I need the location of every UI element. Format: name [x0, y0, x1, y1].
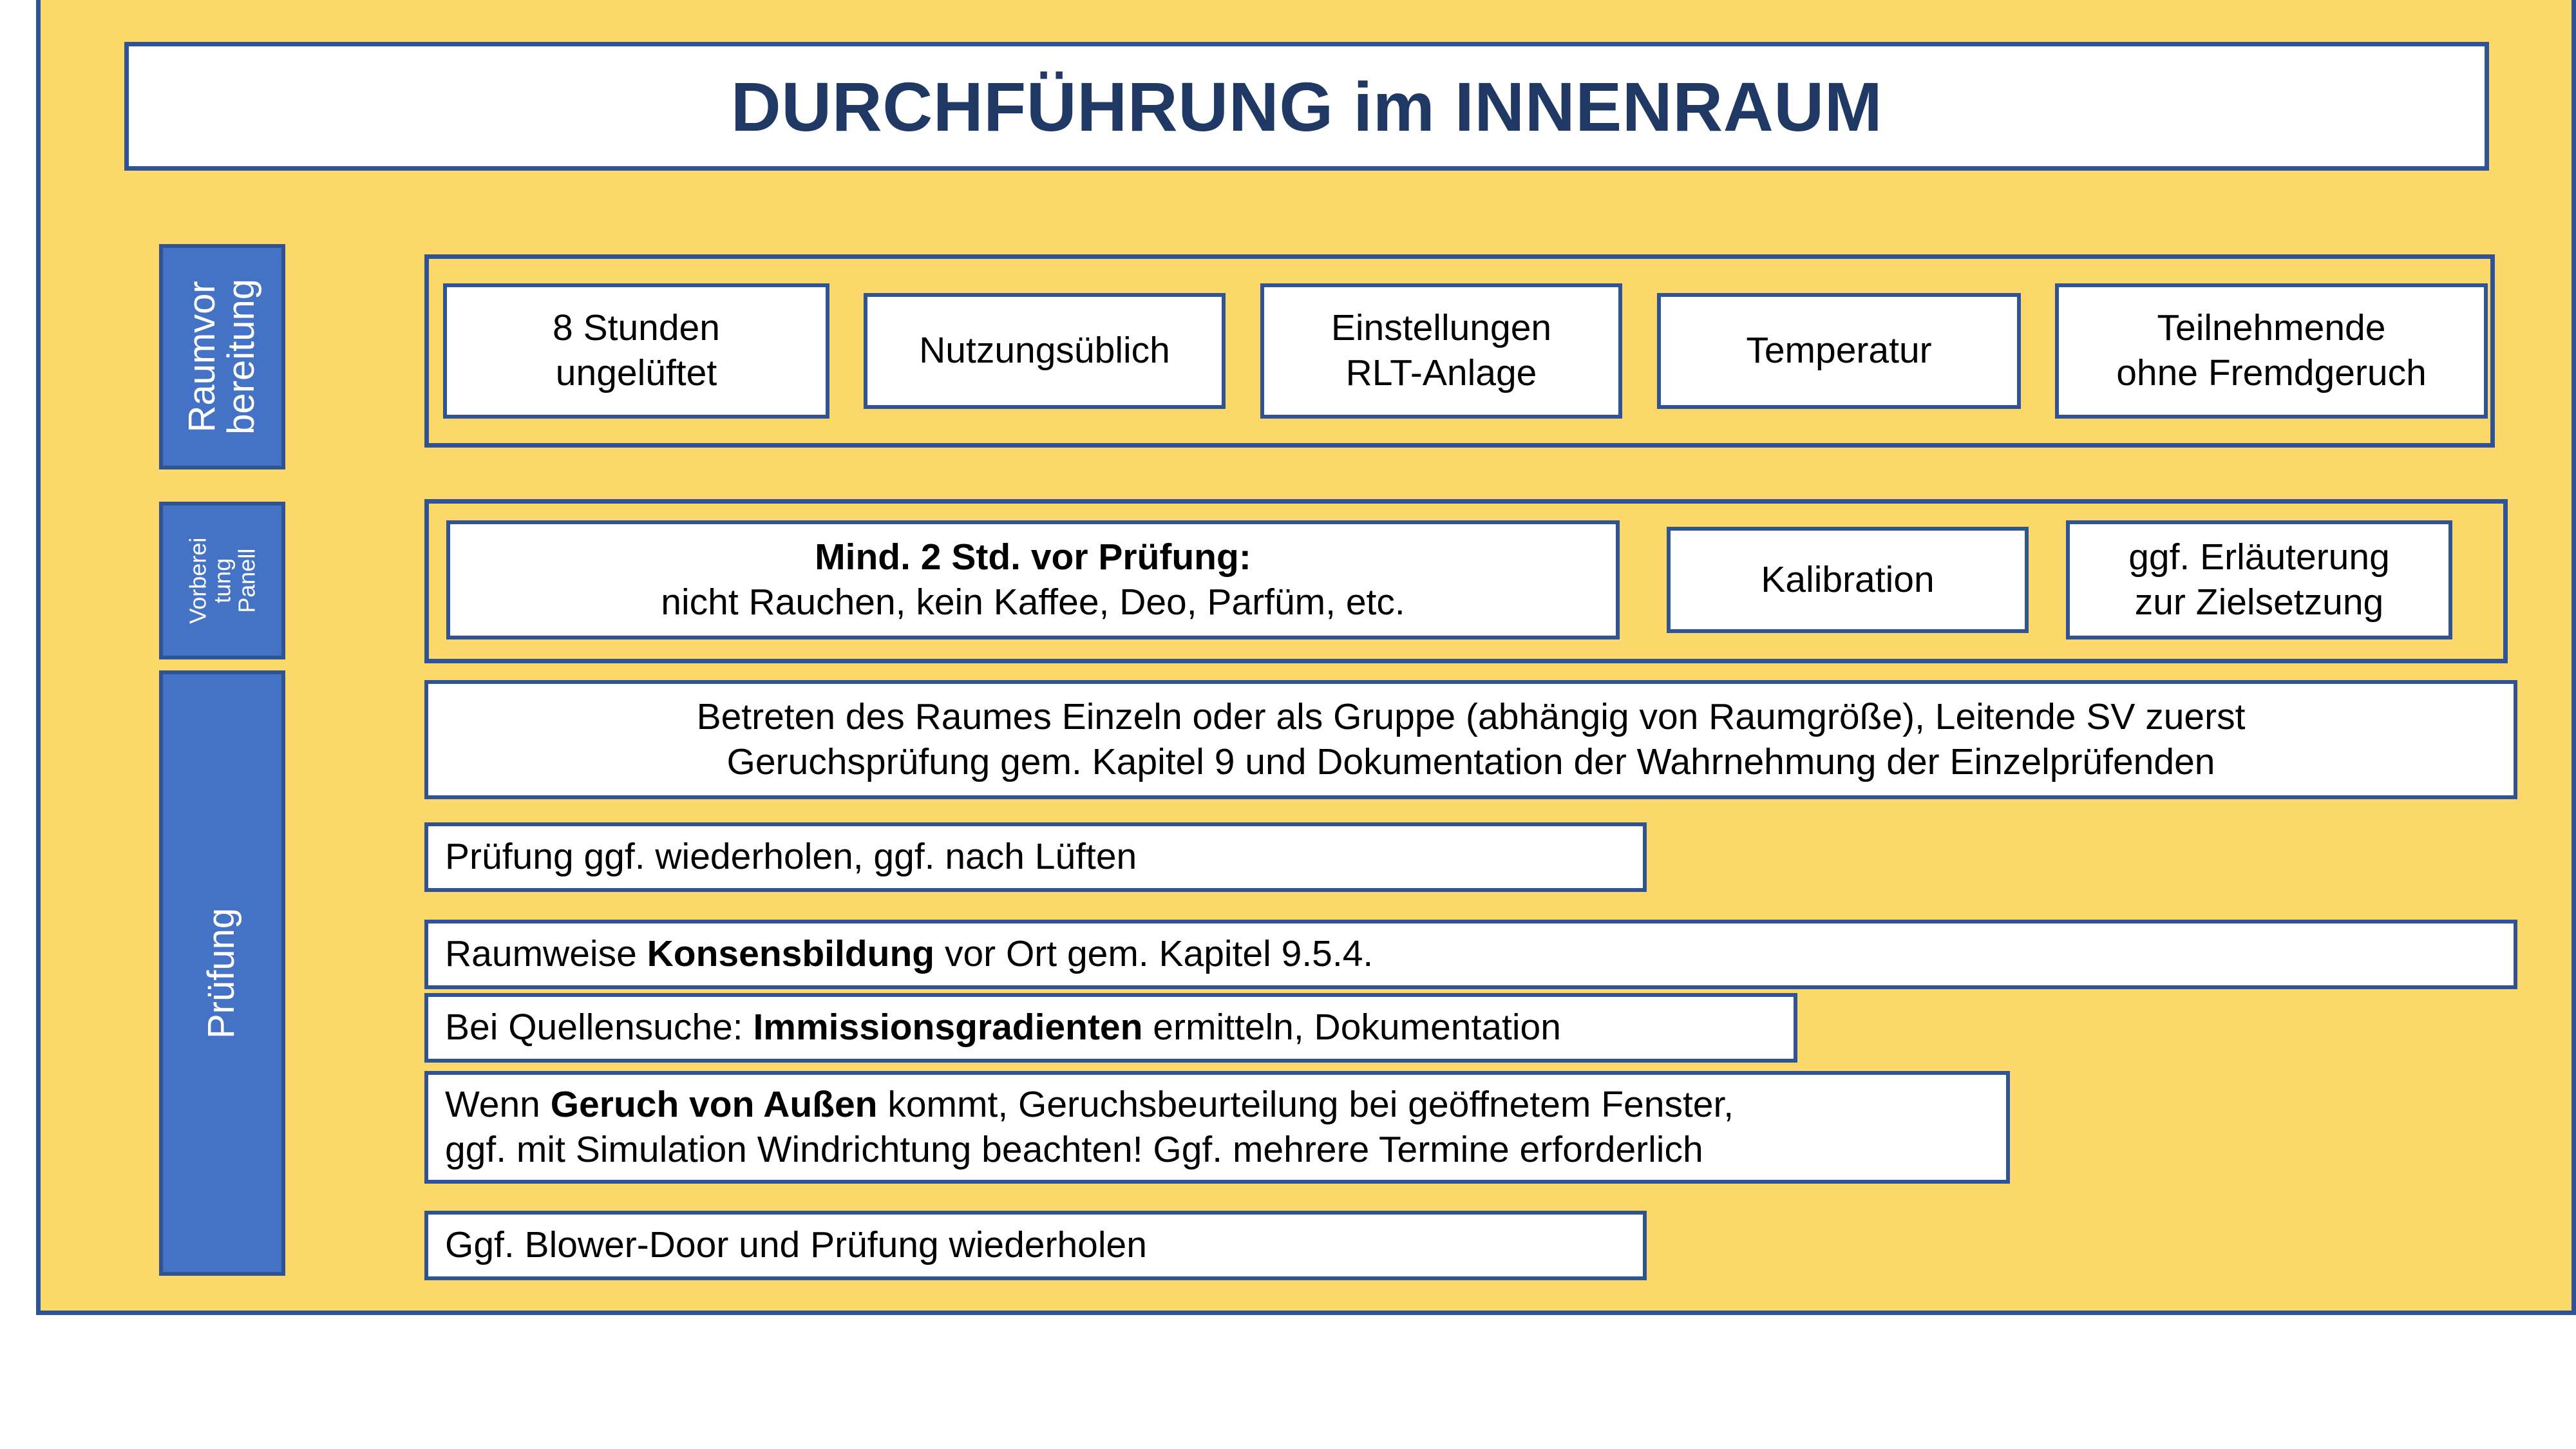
box-text: Kalibration [1761, 558, 1934, 603]
stage-label-pruefung: Prüfung [159, 670, 285, 1276]
box-text: Nutzungsüblich [919, 328, 1170, 374]
stage-label-raumvorbereitung: Raumvorbereitung [159, 244, 285, 469]
box-blower-door-pruefung-wiederholen: Ggf. Blower-Door und Prüfung wiederholen [424, 1211, 1647, 1280]
title-banner: DURCHFÜHRUNG im INNENRAUM [124, 42, 2489, 171]
box-betreten-des-raumes: Betreten des Raumes Einzeln oder als Gru… [424, 680, 2517, 799]
box-einstellungen-rlt-anlage: EinstellungenRLT-Anlage [1260, 283, 1622, 419]
box-text: Betreten des Raumes Einzeln oder als Gru… [697, 695, 2246, 784]
box-temperatur: Temperatur [1657, 293, 2021, 409]
box-mind-2-std-vor-pruefung: Mind. 2 Std. vor Prüfung:nicht Rauchen, … [446, 520, 1620, 639]
box-text: EinstellungenRLT-Anlage [1331, 306, 1551, 395]
box-raumweise-konsensbildung: Raumweise Konsensbildung vor Ort gem. Ka… [424, 920, 2517, 989]
slide-canvas: DURCHFÜHRUNG im INNENRAUM Raumvorbereitu… [36, 0, 2576, 1315]
box-text: Bei Quellensuche: Immissionsgradienten e… [445, 1005, 1561, 1050]
box-kalibration: Kalibration [1667, 527, 2029, 633]
box-ggf-erlaeuterung-zur-zielsetzung: ggf. Erläuterungzur Zielsetzung [2066, 520, 2452, 639]
box-nutzungsueblich: Nutzungsüblich [864, 293, 1226, 409]
box-text: 8 Stundenungelüftet [553, 306, 720, 395]
box-pruefung-ggf-wiederholen: Prüfung ggf. wiederholen, ggf. nach Lüft… [424, 822, 1647, 892]
box-geruch-von-aussen: Wenn Geruch von Außen kommt, Geruchsbeur… [424, 1071, 2010, 1184]
box-teilnehmende-ohne-fremdgeruch: Teilnehmendeohne Fremdgeruch [2055, 283, 2488, 419]
stage-label-text: Raumvorbereitung [183, 279, 261, 435]
box-text: Wenn Geruch von Außen kommt, Geruchsbeur… [445, 1083, 1734, 1172]
stage-label-vorbereitung-panell: VorbereitungPanell [159, 502, 285, 659]
box-text: ggf. Erläuterungzur Zielsetzung [2128, 535, 2390, 625]
box-text: Raumweise Konsensbildung vor Ort gem. Ka… [445, 932, 1373, 977]
box-8-stunden-ungelueftet: 8 Stundenungelüftet [443, 283, 829, 419]
stage-label-text: Prüfung [203, 907, 242, 1038]
page-title: DURCHFÜHRUNG im INNENRAUM [731, 66, 1882, 147]
box-text: Temperatur [1746, 328, 1931, 374]
box-text: Teilnehmendeohne Fremdgeruch [2116, 306, 2427, 395]
box-immissionsgradienten: Bei Quellensuche: Immissionsgradienten e… [424, 993, 1797, 1063]
box-text: Mind. 2 Std. vor Prüfung:nicht Rauchen, … [661, 535, 1405, 625]
box-text: Prüfung ggf. wiederholen, ggf. nach Lüft… [445, 835, 1137, 880]
box-text: Ggf. Blower-Door und Prüfung wiederholen [445, 1223, 1147, 1268]
stage-label-text: VorbereitungPanell [185, 537, 258, 623]
